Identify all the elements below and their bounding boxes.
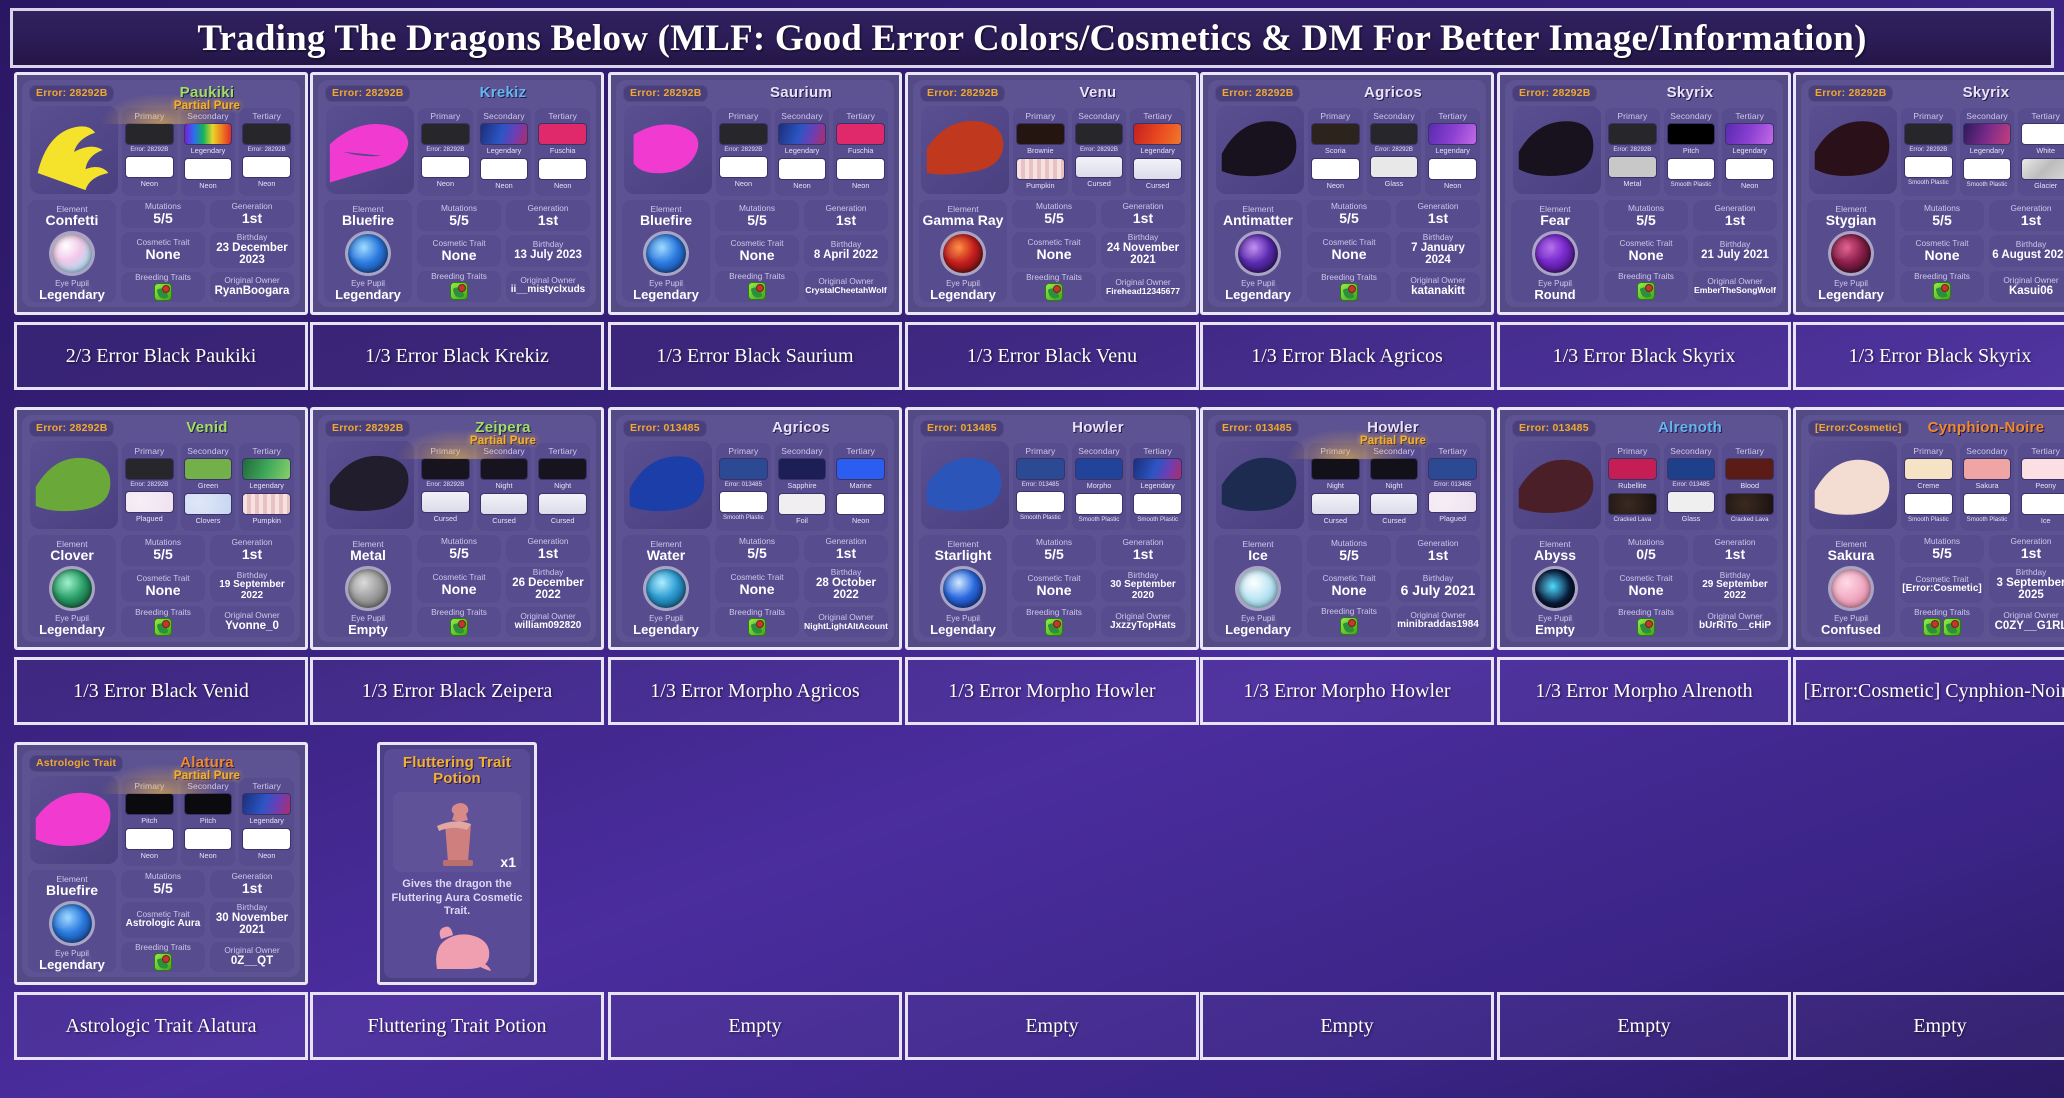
trait-column: PrimaryError: 28292BNeon: [122, 108, 177, 196]
stat-row: Mutations5/5Generation1st: [121, 535, 294, 566]
breeding-traits-box: Breeding Traits: [1012, 272, 1096, 302]
trait-column: SecondarySapphireFoil: [775, 443, 830, 531]
breeding-traits-icons: [154, 283, 172, 301]
trait-column: TertiaryNightCursed: [535, 443, 590, 531]
stat-row: Breeding TraitsOriginal OwnerC0ZY__G1RL: [1900, 607, 2064, 637]
trait-column: PrimaryError: 013485Smooth Plastic: [1013, 443, 1068, 530]
breeding-traits-label: Breeding Traits: [135, 608, 191, 617]
generation-value: 1st: [1133, 547, 1153, 562]
dragon-card[interactable]: Error: 28292BSkyrixPrimaryError: 28292BS…: [1793, 72, 2064, 315]
birthday-box: Birthday26 December 2022: [506, 567, 590, 603]
trait-column-header: Tertiary: [836, 111, 885, 121]
trait-column-header: Secondary: [184, 781, 233, 791]
trait-column-header: Primary: [719, 446, 768, 456]
color-swatch: [1016, 458, 1065, 480]
material-name: Neon: [421, 180, 470, 188]
trait-column: TertiaryLegendaryNeon: [239, 778, 294, 866]
trait-column-header: Secondary: [480, 446, 529, 456]
element-value: Sakura: [1828, 548, 1875, 563]
element-orb-icon: [49, 566, 95, 612]
grid-cell: Error: 28292BSkyrixPrimaryError: 28292BS…: [1793, 72, 2064, 315]
color-name: Legendary: [1428, 147, 1477, 155]
generation-box: Generation1st: [506, 200, 590, 231]
trait-column: SecondaryMorphoSmooth Plastic: [1072, 443, 1127, 530]
element-panel: ElementConfettiEye PupilLegendary: [28, 200, 116, 302]
dragon-card[interactable]: Error: 013485AlrenothPrimaryRubelliteCra…: [1497, 407, 1791, 650]
error-badge: Error: 28292B: [1512, 85, 1597, 102]
cosmetic-trait-value: None: [1037, 247, 1072, 262]
breeding-traits-label: Breeding Traits: [1321, 273, 1377, 282]
trait-column-header: Primary: [421, 446, 470, 456]
birthday-label: Birthday: [2016, 568, 2046, 577]
dragon-portrait: [1809, 441, 1897, 529]
material-name: Ice: [2021, 517, 2064, 525]
color-swatch: [1311, 123, 1360, 145]
dragon-card-body: [Error:Cosmetic]Cynphion-NoirePrimaryCre…: [1801, 415, 2064, 642]
color-swatch: [480, 123, 529, 145]
element-orb-icon: [643, 566, 689, 612]
color-name: Pitch: [125, 817, 174, 825]
material-swatch: [778, 493, 827, 515]
mutations-box: Mutations5/5: [417, 535, 501, 563]
stat-row: Breeding TraitsOriginal Owner0Z__QT: [121, 942, 294, 972]
material-name: Pumpkin: [242, 517, 291, 525]
birthday-value: 7 January 2024: [1398, 242, 1478, 267]
dragon-card[interactable]: Error: 28292BVenidPrimaryError: 28292BPl…: [14, 407, 308, 650]
material-name: Neon: [836, 517, 885, 525]
mutations-box: Mutations0/5: [1604, 535, 1688, 566]
dragon-info: ElementCloverEye PupilLegendaryMutations…: [28, 535, 294, 637]
material-name: Cursed: [1133, 182, 1182, 190]
cosmetic-trait-box: Cosmetic TraitNone: [1307, 570, 1391, 601]
error-badge: Error: 28292B: [29, 420, 114, 437]
trait-column-header: Tertiary: [1428, 446, 1477, 456]
dragon-name: Saurium: [712, 84, 890, 101]
material-swatch: [1904, 493, 1953, 515]
dragon-name: Skyrix: [1601, 84, 1779, 101]
original-owner-value: EmberTheSongWolf: [1694, 286, 1776, 295]
generation-value: 1st: [538, 213, 558, 228]
material-swatch: [719, 491, 768, 513]
element-value: Bluefire: [46, 883, 98, 898]
grid-cell: Error: 013485HowlerPrimaryError: 013485S…: [905, 407, 1199, 650]
error-badge: Error: 28292B: [1808, 85, 1893, 102]
element-panel: ElementCloverEye PupilLegendary: [28, 535, 116, 637]
dragon-info: ElementBluefireEye PupilLegendaryMutatio…: [324, 200, 590, 302]
dragon-card[interactable]: Error: 28292BVenuPrimaryBrowniePumpkinSe…: [905, 72, 1199, 315]
color-name: Legendary: [1725, 147, 1774, 155]
birthday-box: Birthday28 October 2022: [804, 567, 888, 603]
stat-row: Breeding TraitsOriginal Ownerii__mistycl…: [417, 271, 590, 302]
stat-row: Breeding TraitsOriginal OwnerFirehead123…: [1012, 272, 1185, 302]
dragon-card-body: Error: 28292BAgricosPrimaryScoriaNeonSec…: [1208, 80, 1486, 307]
eye-pupil-value: Legendary: [335, 288, 401, 302]
stat-row: Cosmetic TraitNoneBirthday30 September 2…: [1012, 570, 1185, 603]
dragon-card-body: Error: 28292BVenidPrimaryError: 28292BPl…: [22, 415, 300, 642]
dragon-card[interactable]: Error: 013485HowlerPrimaryError: 013485S…: [905, 407, 1199, 650]
breeding-traits-box: Breeding Traits: [1900, 271, 1984, 302]
trait-column: TertiaryError: 28292BNeon: [239, 108, 294, 196]
color-name: Rubellite: [1608, 482, 1657, 490]
material-swatch: [184, 158, 233, 180]
stat-row: Cosmetic TraitAstrologic AuraBirthday30 …: [121, 902, 294, 938]
grid-cell: Error: 28292BSkyrixPrimaryError: 28292BM…: [1497, 72, 1791, 315]
mutations-box: Mutations5/5: [121, 200, 205, 228]
stat-grid: Mutations5/5Generation1stCosmetic TraitN…: [1900, 200, 2064, 302]
dragon-card[interactable]: Error: 28292BKrekizPrimaryError: 28292BN…: [310, 72, 604, 315]
element-value: Starlight: [935, 548, 992, 563]
mutations-box: Mutations5/5: [121, 870, 205, 898]
stat-row: Breeding TraitsOriginal OwnerCrystalChee…: [715, 271, 888, 302]
generation-box: Generation1st: [210, 870, 294, 898]
grid-cell: Error: 28292BVenuPrimaryBrowniePumpkinSe…: [905, 72, 1199, 315]
cosmetic-trait-box: Cosmetic TraitNone: [121, 232, 205, 268]
page-title: Trading The Dragons Below (MLF: Good Err…: [197, 17, 1866, 60]
material-swatch: [1428, 491, 1477, 513]
breeding-traits-icons: [1933, 282, 1951, 300]
breeding-traits-box: Breeding Traits: [121, 272, 205, 302]
grid-cell: Error: 013485AgricosPrimaryError: 013485…: [608, 407, 902, 650]
color-swatch: [1725, 123, 1774, 145]
card-caption: 1/3 Error Black Venu: [905, 322, 1199, 390]
stat-row: Breeding TraitsOriginal OwnerbUrRiTo__cH…: [1604, 606, 1777, 637]
color-swatch: [1016, 123, 1065, 145]
original-owner-label: Original Owner: [224, 276, 279, 285]
trait-column: PrimaryError: 28292BPlagued: [122, 443, 177, 531]
generation-value: 1st: [2021, 213, 2041, 228]
material-swatch: [836, 158, 885, 180]
element-panel: ElementBluefireEye PupilLegendary: [28, 870, 116, 972]
material-name: Cursed: [1311, 517, 1360, 525]
birthday-box: Birthday19 September 2022: [210, 570, 294, 603]
stat-row: Breeding TraitsOriginal Ownerkatanakitt: [1307, 272, 1480, 302]
element-panel: ElementAbyssEye PupilEmpty: [1511, 535, 1599, 637]
generation-value: 1st: [1133, 211, 1153, 226]
birthday-value: 19 September 2022: [212, 580, 292, 602]
trait-column: PrimaryError: 013485Smooth Plastic: [716, 443, 771, 531]
dragon-name: Agricos: [1304, 84, 1482, 101]
material-name: Neon: [1428, 182, 1477, 190]
stat-grid: Mutations5/5Generation1stCosmetic TraitN…: [417, 535, 590, 637]
color-name: Sapphire: [778, 482, 827, 490]
color-name: Scoria: [1311, 147, 1360, 155]
color-name: Error: 013485: [719, 482, 768, 488]
dragon-name: Alrenoth: [1601, 419, 1779, 436]
trait-column: SecondaryLegendaryNeon: [477, 108, 532, 196]
breeding-trait-icon: [1045, 618, 1063, 636]
breeding-trait-icon: [1933, 282, 1951, 300]
eye-pupil-value: Legendary: [633, 288, 699, 302]
breeding-traits-icons: [1340, 617, 1358, 635]
trait-column: SecondaryNightCursed: [1367, 443, 1422, 531]
color-swatch: [1904, 123, 1953, 145]
trait-column-header: Secondary: [778, 446, 827, 456]
element-panel: ElementMetalEye PupilEmpty: [324, 535, 412, 637]
stat-row: Mutations5/5Generation1st: [1604, 200, 1777, 231]
mutations-box: Mutations5/5: [1307, 200, 1391, 228]
dragon-name: Zeipera: [414, 419, 592, 436]
trait-swatches: PrimaryError: 28292BSmooth PlasticSecond…: [1901, 108, 2064, 196]
cosmetic-trait-box: Cosmetic TraitNone: [715, 235, 799, 266]
breeding-traits-icons: [450, 618, 468, 636]
dragon-portrait: [1513, 441, 1601, 529]
color-name: Legendary: [480, 147, 529, 155]
stat-row: Cosmetic Trait[Error:Cosmetic]Birthday3 …: [1900, 567, 2064, 603]
mutations-value: 5/5: [1932, 546, 1951, 561]
card-caption: 1/3 Error Morpho Howler: [905, 657, 1199, 725]
potion-description: Gives the dragon the Fluttering Aura Cos…: [390, 878, 524, 918]
mutations-value: 5/5: [1044, 211, 1063, 226]
birthday-value: 30 September 2020: [1103, 580, 1183, 602]
dragon-card[interactable]: Error: 28292BSkyrixPrimaryError: 28292BM…: [1497, 72, 1791, 315]
trait-column: PrimaryRubelliteCracked Lava: [1605, 443, 1660, 530]
material-swatch: [125, 491, 174, 513]
color-name: Pitch: [184, 817, 233, 825]
trait-column: SecondaryPitchNeon: [181, 778, 236, 866]
color-name: Green: [184, 482, 233, 490]
error-badge: Error: 013485: [1512, 420, 1596, 437]
stat-row: Cosmetic TraitNoneBirthday19 September 2…: [121, 570, 294, 603]
original-owner-value: 0Z__QT: [231, 955, 273, 967]
trait-swatches: PrimaryError: 28292BNeonSecondaryLegenda…: [122, 108, 294, 196]
color-swatch: [242, 458, 291, 480]
trait-column-header: Primary: [125, 446, 174, 456]
dragon-card[interactable]: Error: 28292BAgricosPrimaryScoriaNeonSec…: [1200, 72, 1494, 315]
trait-column: SecondaryError: 28292BGlass: [1367, 108, 1422, 196]
color-swatch: [1370, 123, 1419, 145]
original-owner-value: C0ZY__G1RL: [1995, 620, 2064, 632]
original-owner-value: minibraddas1984: [1397, 620, 1479, 631]
cosmetic-trait-value: None: [1332, 247, 1367, 262]
stat-grid: Mutations5/5Generation1stCosmetic TraitN…: [1012, 200, 1185, 302]
color-swatch: [1608, 458, 1657, 480]
breeding-traits-icons: [1340, 283, 1358, 301]
trait-column: TertiaryWhiteGlacier: [2018, 108, 2064, 196]
dragon-portrait: [624, 106, 712, 194]
original-owner-box: Original OwnerbUrRiTo__cHiP: [1693, 606, 1777, 637]
mutations-value: 5/5: [1339, 548, 1358, 563]
trait-column-header: Primary: [421, 111, 470, 121]
dragon-card-body: Error: 28292BVenuPrimaryBrowniePumpkinSe…: [913, 80, 1191, 307]
trait-column-header: Primary: [719, 111, 768, 121]
color-swatch: [836, 458, 885, 480]
breeding-traits-box: Breeding Traits: [417, 271, 501, 302]
stat-row: Cosmetic TraitNoneBirthday26 December 20…: [417, 567, 590, 603]
element-panel: ElementGamma RayEye PupilLegendary: [919, 200, 1007, 302]
breeding-traits-box: Breeding Traits: [1012, 606, 1096, 637]
breeding-traits-label: Breeding Traits: [1618, 608, 1674, 617]
material-swatch: [1370, 156, 1419, 178]
original-owner-label: Original Owner: [1410, 276, 1465, 285]
trait-column: TertiaryError: 013485Plagued: [1425, 443, 1480, 531]
cosmetic-trait-box: Cosmetic TraitNone: [1604, 235, 1688, 266]
element-value: Fear: [1540, 213, 1570, 228]
generation-box: Generation1st: [1396, 535, 1480, 566]
color-swatch: [1311, 458, 1360, 480]
breeding-traits-box: Breeding Traits: [1307, 272, 1391, 302]
original-owner-box: Original Ownerwilliam092820: [506, 607, 590, 637]
generation-value: 1st: [1725, 547, 1745, 562]
trait-column: PrimaryError: 28292BNeon: [418, 108, 473, 196]
cosmetic-trait-value: None: [1925, 248, 1960, 263]
color-name: Marine: [836, 482, 885, 490]
material-name: Smooth Plastic: [1016, 515, 1065, 521]
material-name: Neon: [778, 182, 827, 190]
material-name: Smooth Plastic: [1667, 182, 1716, 188]
color-swatch: [836, 123, 885, 145]
dragon-name: Krekiz: [414, 84, 592, 101]
card-caption: 1/3 Error Black Skyrix: [1497, 322, 1791, 390]
color-name: Night: [1370, 482, 1419, 490]
birthday-box: Birthday30 November 2021: [210, 902, 294, 938]
material-swatch: [1963, 493, 2012, 515]
mutations-value: 5/5: [449, 213, 468, 228]
color-name: Error: 28292B: [1904, 147, 1953, 153]
trait-column-header: Primary: [1904, 446, 1953, 456]
dragon-card[interactable]: Astrologic TraitAlaturaPartial PurePrima…: [14, 742, 308, 985]
breeding-traits-box: Breeding Traits: [1604, 271, 1688, 302]
material-swatch: [421, 491, 470, 513]
breeding-traits-box: Breeding Traits: [1307, 606, 1391, 637]
trait-column-header: Secondary: [1075, 111, 1124, 121]
dragon-card[interactable]: [Error:Cosmetic]Cynphion-NoirePrimaryCre…: [1793, 407, 2064, 650]
original-owner-box: Original OwnerC0ZY__G1RL: [1989, 607, 2064, 637]
mutations-box: Mutations5/5: [1012, 535, 1096, 566]
mutations-value: 5/5: [1932, 213, 1951, 228]
stat-row: Breeding TraitsOriginal OwnerJxzzyTopHat…: [1012, 606, 1185, 637]
dragon-card[interactable]: Error: 013485HowlerPartial PurePrimaryNi…: [1200, 407, 1494, 650]
color-swatch: [1725, 458, 1774, 480]
element-value: Bluefire: [342, 213, 394, 228]
error-badge: Astrologic Trait: [29, 755, 123, 772]
color-name: Legendary: [1133, 482, 1182, 490]
birthday-value: 26 December 2022: [508, 577, 588, 602]
material-swatch: [242, 493, 291, 515]
original-owner-value: ii__mistyclxuds: [511, 285, 585, 296]
color-name: Legendary: [778, 147, 827, 155]
trait-column-header: Primary: [1311, 446, 1360, 456]
material-name: Pumpkin: [1016, 182, 1065, 190]
material-swatch: [1608, 493, 1657, 515]
material-swatch: [2021, 493, 2064, 515]
dragon-info: ElementFearEye PupilRoundMutations5/5Gen…: [1511, 200, 1777, 302]
stat-row: Cosmetic TraitNoneBirthday23 December 20…: [121, 232, 294, 268]
color-swatch: [2021, 458, 2064, 480]
card-caption: Empty: [1497, 992, 1791, 1060]
trait-column-header: Primary: [1608, 111, 1657, 121]
mutations-value: 0/5: [1636, 547, 1655, 562]
dragon-portrait: [1216, 106, 1304, 194]
element-value: Bluefire: [640, 213, 692, 228]
element-orb-icon: [345, 566, 391, 612]
color-swatch: [719, 458, 768, 480]
dragon-info: ElementAbyssEye PupilEmptyMutations0/5Ge…: [1511, 535, 1777, 637]
trait-column: SecondaryLegendarySmooth Plastic: [1960, 108, 2015, 196]
color-swatch: [125, 458, 174, 480]
dragon-info: ElementStygianEye PupilLegendaryMutation…: [1807, 200, 2064, 302]
trait-column: PrimaryError: 28292BCursed: [418, 443, 473, 531]
color-name: White: [2021, 147, 2064, 155]
stat-grid: Mutations5/5Generation1stCosmetic TraitN…: [715, 535, 888, 637]
card-caption: 1/3 Error Black Venid: [14, 657, 308, 725]
potion-image: x1: [393, 792, 521, 872]
color-name: Night: [1311, 482, 1360, 490]
mutations-value: 5/5: [1044, 547, 1063, 562]
potion-card[interactable]: Fluttering Trait Potionx1Gives the drago…: [377, 742, 537, 985]
eye-pupil-value: Empty: [348, 623, 388, 637]
trait-column-header: Tertiary: [2021, 111, 2064, 121]
birthday-value: 13 July 2023: [514, 249, 582, 261]
trait-column: TertiaryFuschiaNeon: [535, 108, 590, 196]
mutations-value: 5/5: [1339, 211, 1358, 226]
birthday-box: Birthday13 July 2023: [506, 235, 590, 266]
dragon-portrait: [326, 441, 414, 529]
dragon-card[interactable]: Error: 28292BZeiperaPartial PurePrimaryE…: [310, 407, 604, 650]
birthday-label: Birthday: [237, 233, 267, 242]
trait-swatches: PrimaryError: 28292BNeonSecondaryLegenda…: [716, 108, 888, 196]
breeding-trait-icon: [1637, 618, 1655, 636]
cosmetic-trait-box: Cosmetic TraitNone: [121, 570, 205, 603]
stat-row: Mutations5/5Generation1st: [715, 200, 888, 231]
material-swatch: [1075, 493, 1124, 515]
birthday-value: 8 April 2022: [814, 249, 878, 261]
color-swatch: [421, 458, 470, 480]
stat-row: Mutations5/5Generation1st: [1012, 535, 1185, 566]
color-swatch: [778, 123, 827, 145]
error-badge: Error: 28292B: [623, 85, 708, 102]
color-swatch: [538, 458, 587, 480]
mutations-box: Mutations5/5: [1012, 200, 1096, 228]
trait-swatches: PrimaryRubelliteCracked LavaSecondaryErr…: [1605, 443, 1777, 530]
original-owner-box: Original OwnerYvonne_0: [210, 606, 294, 637]
trait-column: TertiaryBloodCracked Lava: [1722, 443, 1777, 530]
trait-column: TertiaryPeonyIce: [2018, 443, 2064, 531]
original-owner-value: katanakitt: [1411, 285, 1465, 297]
breeding-traits-label: Breeding Traits: [1026, 273, 1082, 282]
color-name: Error: 28292B: [125, 482, 174, 488]
original-owner-label: Original Owner: [2003, 611, 2058, 620]
stat-grid: Mutations5/5Generation1stCosmetic TraitA…: [121, 870, 294, 972]
dragon-card[interactable]: Error: 28292BPaukikiPartial PurePrimaryE…: [14, 72, 308, 315]
material-name: Neon: [1311, 182, 1360, 190]
element-panel: ElementBluefireEye PupilLegendary: [324, 200, 412, 302]
trait-column-header: Tertiary: [1725, 446, 1774, 456]
color-name: Legendary: [242, 817, 291, 825]
material-swatch: [1963, 158, 2012, 180]
trait-column: SecondaryError: 28292BCursed: [1072, 108, 1127, 196]
element-value: Confetti: [46, 213, 99, 228]
original-owner-value: Kasui06: [2009, 285, 2053, 297]
color-name: Error: 013485: [1016, 482, 1065, 488]
color-name: Error: 28292B: [125, 147, 174, 153]
color-name: Legendary: [1133, 147, 1182, 155]
breeding-trait-icon: [154, 283, 172, 301]
original-owner-box: Original OwnerJxzzyTopHats: [1101, 606, 1185, 637]
element-orb-icon: [1235, 231, 1281, 277]
breeding-traits-label: Breeding Traits: [431, 608, 487, 617]
card-caption: 1/3 Error Morpho Howler: [1200, 657, 1494, 725]
material-name: Smooth Plastic: [1133, 517, 1182, 523]
eye-pupil-value: Legendary: [1818, 288, 1884, 302]
birthday-value: 29 September 2022: [1695, 580, 1775, 602]
original-owner-label: Original Owner: [2003, 276, 2058, 285]
breeding-trait-icon: [748, 282, 766, 300]
dragon-card[interactable]: Error: 28292BSauriumPrimaryError: 28292B…: [608, 72, 902, 315]
color-name: Sakura: [1963, 482, 2012, 490]
dragon-card[interactable]: Error: 013485AgricosPrimaryError: 013485…: [608, 407, 902, 650]
cosmetic-trait-box: Cosmetic Trait[Error:Cosmetic]: [1900, 567, 1984, 603]
cosmetic-trait-box: Cosmetic TraitNone: [1012, 232, 1096, 268]
